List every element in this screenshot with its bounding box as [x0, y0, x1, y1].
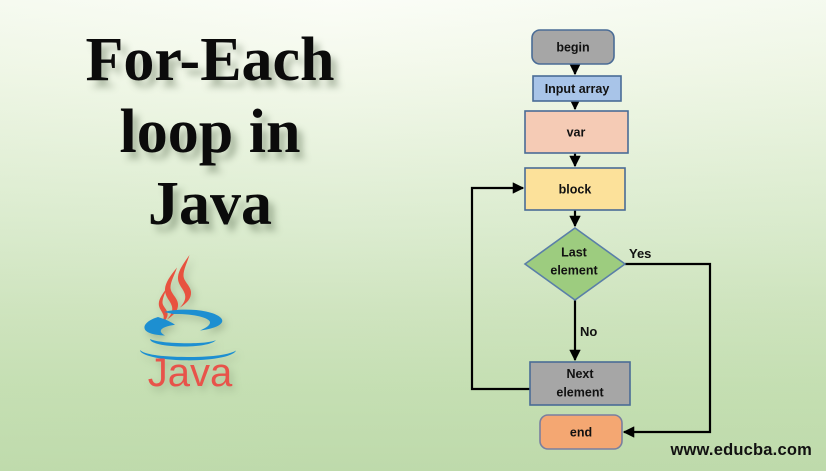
edge-label-no: No — [580, 324, 597, 339]
edge-next-back-to-block — [472, 188, 530, 389]
last-element-label-line1: Last — [561, 245, 588, 259]
end-label: end — [570, 425, 592, 439]
flow-node-end[interactable]: end — [540, 415, 622, 449]
flow-node-block[interactable]: block — [525, 168, 625, 210]
flow-node-begin[interactable]: begin — [532, 30, 614, 64]
var-label: var — [567, 125, 586, 139]
java-wordmark: Java — [148, 351, 233, 395]
flow-node-next-element[interactable]: Next element — [530, 362, 630, 405]
begin-label: begin — [556, 40, 589, 54]
flow-node-var[interactable]: var — [525, 111, 628, 153]
left-panel: For-Each loop in Java Java — [0, 0, 440, 471]
last-element-label-line2: element — [550, 263, 598, 277]
flow-node-input-array[interactable]: Input array — [533, 76, 621, 101]
flow-node-last-element[interactable]: Last element — [525, 228, 625, 300]
java-logo: Java — [120, 243, 260, 403]
input-array-label: Input array — [545, 82, 610, 96]
edge-yes-to-end — [624, 264, 710, 432]
flowchart: begin Input array var block Last ele — [440, 0, 826, 471]
site-watermark: www.educba.com — [670, 441, 812, 460]
edge-label-yes: Yes — [629, 246, 651, 261]
next-element-label-line1: Next — [566, 367, 594, 381]
block-label: block — [559, 182, 592, 196]
slide-canvas: For-Each loop in Java Java — [0, 0, 826, 471]
page-title: For-Each loop in Java — [0, 24, 420, 240]
next-element-label-line2: element — [556, 385, 604, 399]
